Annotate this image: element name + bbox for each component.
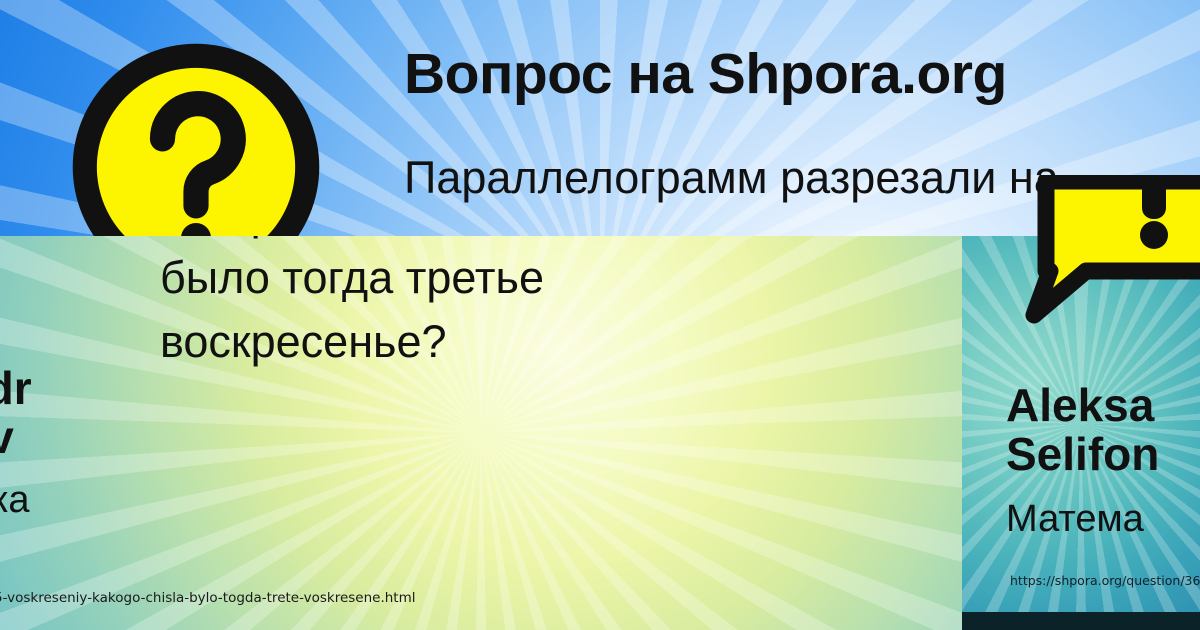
left-author-name-line2: nov (0, 413, 192, 462)
right-author-name-line2: Selifon (1006, 430, 1200, 479)
left-card-url[interactable]: 948-v-fevrale-1976-goda-bylo-5-voskresen… (0, 590, 416, 606)
right-author-name-line1: Aleksa (1006, 381, 1200, 430)
question-line: воскресений: какого числа (160, 236, 880, 246)
right-card-url[interactable]: https://shpora.org/question/3655 (1010, 573, 1200, 588)
right-author-subject: Матема (1006, 499, 1200, 541)
right-card-footer-bar (962, 612, 1200, 630)
question-line: воскресенье? (160, 310, 880, 374)
left-author-name-line1: andr (0, 364, 192, 413)
page-title: Вопрос на Shpora.org (404, 44, 1007, 106)
social-share-card: Вопрос на Shpora.org Параллелограмм разр… (0, 0, 1200, 630)
question-text-body: воскресений: какого числа было тогда тре… (160, 236, 880, 374)
left-author-block: andr nov атика (0, 364, 192, 521)
left-author-subject: атика (0, 480, 192, 522)
speech-bubble-exclamation-icon (1000, 175, 1200, 335)
left-author-card: воскресений: какого числа было тогда тре… (0, 236, 962, 630)
right-author-block: Aleksa Selifon Матема (1006, 381, 1200, 540)
question-line: было тогда третье (160, 246, 880, 310)
